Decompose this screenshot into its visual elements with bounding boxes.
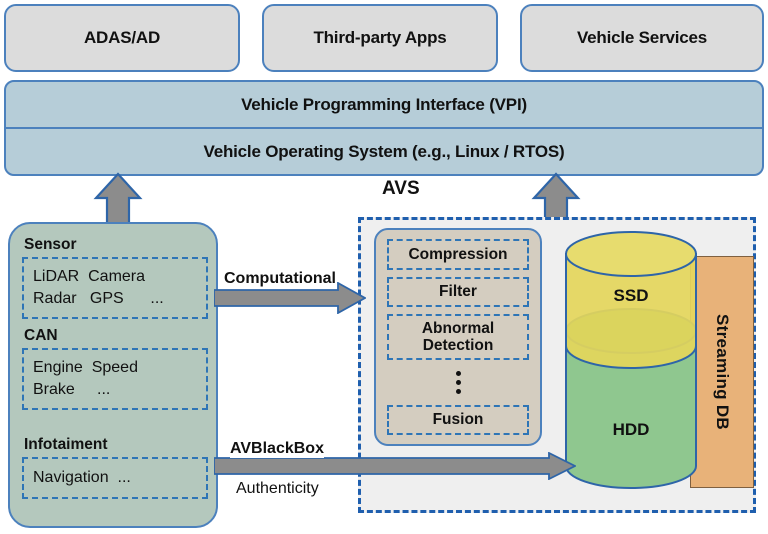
source-item-line: Brake ...: [33, 379, 197, 401]
storage-cylinders[interactable]: [560, 226, 702, 498]
platform-row-label: Vehicle Operating System (e.g., Linux / …: [204, 142, 565, 162]
avs-module-label: Compression: [408, 246, 507, 263]
hdd-label: HDD: [560, 420, 702, 440]
avs-module-label: Fusion: [433, 411, 484, 428]
avs-title: AVS: [382, 178, 420, 200]
flow-label-authenticity: Authenticity: [236, 480, 319, 498]
flow-label-computational: Computational: [224, 270, 336, 288]
streaming-db-label: Streaming DB: [712, 314, 732, 430]
app-box-label: ADAS/AD: [84, 28, 160, 48]
avs-module-label: Abnormal Detection: [422, 320, 494, 355]
app-box-label: Vehicle Services: [577, 28, 707, 48]
platform-row-vos[interactable]: Vehicle Operating System (e.g., Linux / …: [6, 129, 762, 174]
avs-module-card: Compression Filter Abnormal Detection Fu…: [374, 228, 542, 446]
data-source-panel: Sensor LiDAR Camera Radar GPS ... CAN En…: [8, 222, 218, 528]
avs-module-label: Filter: [439, 283, 477, 300]
app-box-adas-ad[interactable]: ADAS/AD: [4, 4, 240, 72]
avs-module-compression[interactable]: Compression: [387, 239, 529, 270]
app-box-third-party-apps[interactable]: Third-party Apps: [262, 4, 498, 72]
source-item-line: Engine Speed: [33, 357, 197, 379]
platform-row-vpi[interactable]: Vehicle Programming Interface (VPI): [6, 82, 762, 127]
source-item-line: Radar GPS ...: [33, 288, 197, 310]
platform-stack: Vehicle Programming Interface (VPI) Vehi…: [4, 80, 764, 176]
platform-row-label: Vehicle Programming Interface (VPI): [241, 95, 527, 115]
source-item-line: Navigation ...: [33, 467, 197, 489]
avs-module-fusion[interactable]: Fusion: [387, 405, 529, 435]
source-group-items-sensor[interactable]: LiDAR Camera Radar GPS ...: [22, 257, 208, 319]
architecture-diagram: ADAS/AD Third-party Apps Vehicle Service…: [0, 0, 768, 534]
avs-module-abnormal-detection[interactable]: Abnormal Detection: [387, 314, 529, 361]
arrow-up-sources-to-platform: [88, 172, 148, 224]
source-group-title-sensor: Sensor: [24, 236, 77, 254]
source-group-items-infotaiment[interactable]: Navigation ...: [22, 457, 208, 499]
avs-module-ellipsis-icon: [387, 367, 529, 398]
app-box-vehicle-services[interactable]: Vehicle Services: [520, 4, 764, 72]
source-group-items-can[interactable]: Engine Speed Brake ...: [22, 348, 208, 410]
source-group-title-can: CAN: [24, 327, 58, 345]
source-group-title-infotaiment: Infotaiment: [24, 436, 108, 454]
source-item-line: LiDAR Camera: [33, 266, 197, 288]
ssd-label: SSD: [560, 286, 702, 306]
flow-label-avblackbox: AVBlackBox: [230, 440, 324, 458]
avs-module-filter[interactable]: Filter: [387, 277, 529, 307]
app-box-label: Third-party Apps: [313, 28, 446, 48]
